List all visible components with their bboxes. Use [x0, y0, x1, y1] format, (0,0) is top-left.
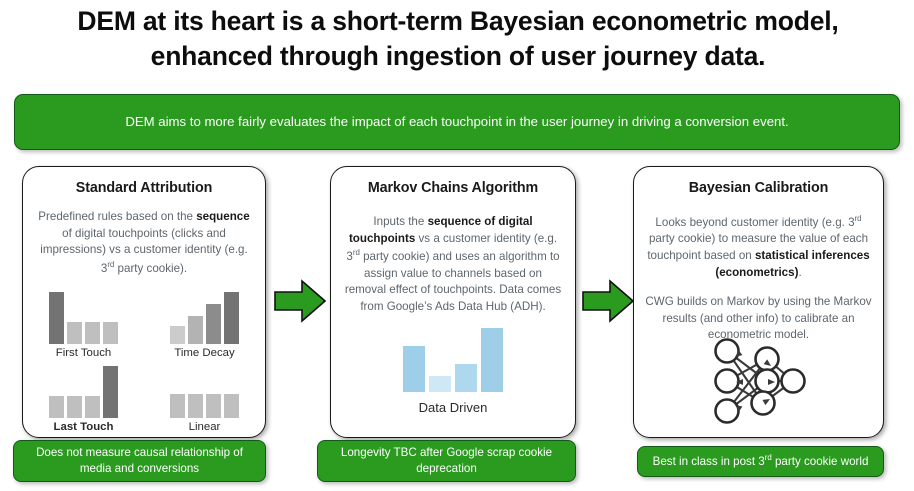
bar — [455, 364, 477, 392]
mini-chart-linear: Linear — [144, 362, 265, 434]
bar — [85, 322, 100, 344]
card-2-body: Inputs the sequence of digital touchpoin… — [331, 214, 575, 315]
mini-chart-last-touch-label: Last Touch — [54, 421, 114, 434]
bar — [49, 396, 64, 418]
mini-chart-first-touch-bars — [49, 288, 118, 344]
mini-chart-time-decay-bars — [170, 288, 239, 344]
footer-banner-3-text: Best in class in post 3rd party cookie w… — [653, 453, 869, 470]
bar — [170, 326, 185, 344]
bar — [170, 394, 185, 418]
footer-banner-bayesian-calibration: Best in class in post 3rd party cookie w… — [637, 446, 884, 477]
arrow-card2-to-card3 — [582, 279, 634, 323]
bar — [188, 394, 203, 418]
footer-banner-1-text: Does not measure causal relationship of … — [23, 445, 256, 476]
bar — [103, 322, 118, 344]
data-driven-chart-label: Data Driven — [419, 400, 488, 415]
bar — [224, 292, 239, 344]
bar — [67, 396, 82, 418]
footer-banner-markov-chains: Longevity TBC after Google scrap cookie … — [317, 440, 576, 482]
bar — [224, 394, 239, 418]
mini-chart-time-decay: Time Decay — [144, 288, 265, 360]
card-standard-attribution[interactable]: Standard Attribution Predefined rules ba… — [22, 166, 266, 438]
mini-chart-linear-bars — [170, 362, 239, 418]
bar — [206, 394, 221, 418]
bar — [85, 396, 100, 418]
bar — [403, 346, 425, 392]
mini-chart-first-touch-label: First Touch — [56, 347, 112, 360]
data-driven-chart-bars — [403, 328, 503, 392]
attribution-model-charts: First Touch Time Decay Last Touch Linear — [23, 288, 265, 435]
network-graph-figure — [634, 333, 883, 429]
bar — [67, 322, 82, 344]
bar — [103, 366, 118, 418]
page-title: DEM at its heart is a short-term Bayesia… — [22, 4, 894, 74]
network-graph-icon — [705, 333, 813, 429]
arrow-card1-to-card2 — [274, 279, 326, 323]
mini-chart-time-decay-label: Time Decay — [174, 347, 234, 360]
card-1-title: Standard Attribution — [23, 180, 265, 196]
mini-chart-last-touch: Last Touch — [23, 362, 144, 434]
summary-banner: DEM aims to more fairly evaluates the im… — [14, 94, 900, 150]
card-3-body-para1: Looks beyond customer identity (e.g. 3rd… — [647, 216, 869, 279]
right-arrow-icon — [274, 279, 326, 323]
bar — [49, 292, 64, 344]
mini-chart-first-touch: First Touch — [23, 288, 144, 360]
bar — [429, 376, 451, 392]
card-bayesian-calibration[interactable]: Bayesian Calibration Looks beyond custom… — [633, 166, 884, 438]
mini-chart-last-touch-bars — [49, 362, 118, 418]
card-3-body: Looks beyond customer identity (e.g. 3rd… — [634, 213, 883, 344]
footer-banner-standard-attribution: Does not measure causal relationship of … — [13, 440, 266, 482]
footer-banner-2-text: Longevity TBC after Google scrap cookie … — [327, 445, 566, 476]
bar — [481, 328, 503, 392]
card-2-title: Markov Chains Algorithm — [331, 180, 575, 196]
card-1-body: Predefined rules based on the sequence o… — [23, 209, 265, 277]
summary-banner-text: DEM aims to more fairly evaluates the im… — [125, 112, 788, 131]
slide-canvas: DEM at its heart is a short-term Bayesia… — [0, 0, 914, 491]
bar — [206, 304, 221, 344]
card-3-title: Bayesian Calibration — [634, 180, 883, 196]
right-arrow-icon — [582, 279, 634, 323]
bar — [188, 316, 203, 344]
mini-chart-linear-label: Linear — [189, 421, 221, 434]
data-driven-chart: Data Driven — [331, 328, 575, 415]
card-markov-chains-algorithm[interactable]: Markov Chains Algorithm Inputs the seque… — [330, 166, 576, 438]
